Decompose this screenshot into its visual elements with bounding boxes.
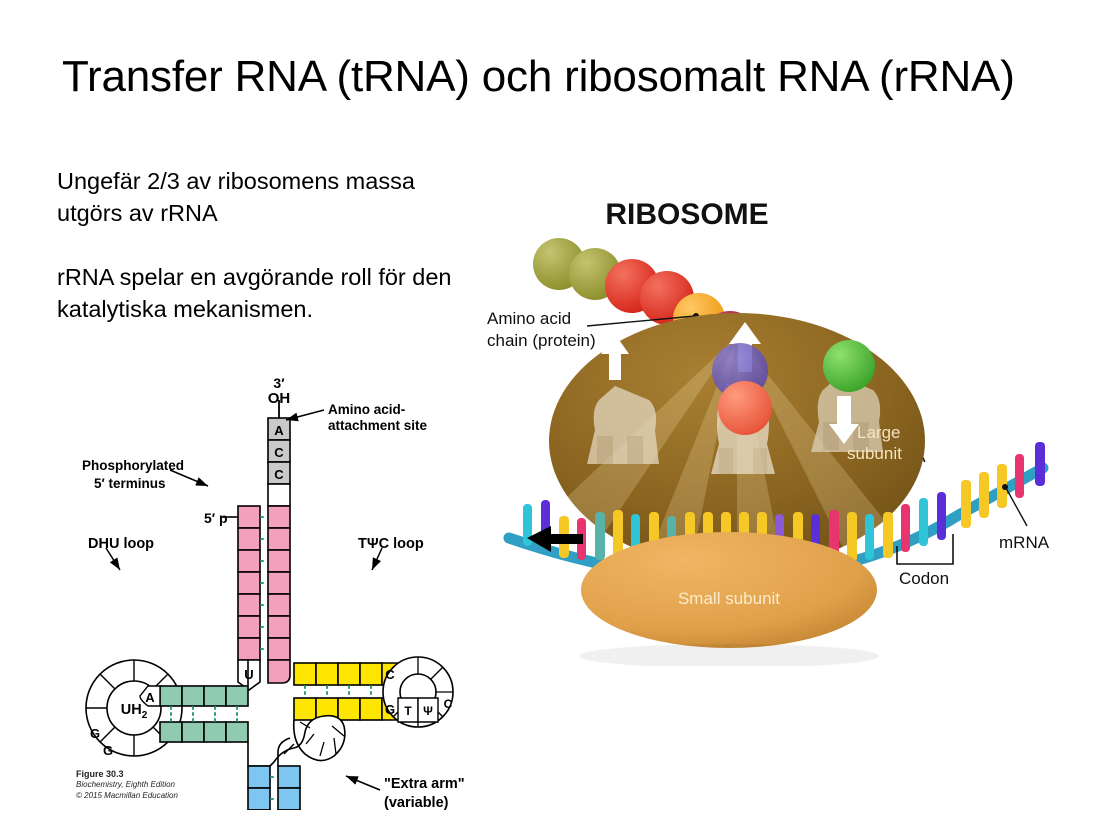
label-dhu-g1: G (90, 726, 100, 741)
label-tpsic-c-top: C (385, 667, 395, 682)
ball-green (823, 340, 875, 392)
ribosome-title: RIBOSOME (605, 198, 768, 231)
label-extra-arm-2: (variable) (384, 795, 449, 810)
label-large-1: Large (857, 423, 900, 442)
label-tpsic-c-right: C (444, 697, 453, 711)
label-large-2: subunit (847, 444, 902, 463)
label-three-prime: 3′ (273, 375, 285, 391)
ball-salmon (718, 381, 772, 435)
label-acc-a: A (274, 423, 284, 438)
acceptor-stem (238, 400, 290, 683)
slide: Transfer RNA (tRNA) och ribosomalt RNA (… (0, 0, 1110, 836)
label-u-junction: U (244, 667, 253, 682)
label-dhu-g2: G (103, 743, 113, 758)
label-tpsic-psi: Ψ (423, 704, 433, 718)
label-tpsic-t: T (404, 704, 412, 718)
label-tpsic-g: G (385, 702, 395, 717)
label-codon: Codon (899, 569, 949, 588)
trna-cloverleaf-figure: 3′ OH A C C Amino acid- attachment site … (62, 370, 482, 810)
label-oh: OH (268, 390, 291, 407)
label-extra-arm-1: "Extra arm" (384, 776, 465, 792)
label-phosphorylated-2: 5′ terminus (94, 476, 166, 491)
caption-figure-number: Figure 30.3 (76, 768, 178, 780)
label-mrna: mRNA (999, 533, 1050, 552)
label-tpsic-loop: TΨC loop (358, 536, 424, 552)
leader-dot-mrna (1002, 484, 1008, 490)
label-amino-attach-2: attachment site (328, 418, 428, 433)
tpsic-stem (294, 663, 382, 720)
page-title: Transfer RNA (tRNA) och ribosomalt RNA (… (62, 52, 1022, 103)
caption-source: Biochemistry, Eighth Edition (76, 780, 178, 791)
label-dhu-a: A (145, 690, 155, 705)
label-dhu-loop: DHU loop (88, 536, 154, 552)
label-chain-2: chain (protein) (487, 331, 596, 350)
leader-amino-attach (286, 410, 324, 420)
label-acc-c1: C (274, 445, 284, 460)
body-paragraph-2: rRNA spelar en avgörande roll för den ka… (57, 262, 477, 325)
leader-extra-arm (346, 776, 380, 790)
tpsic-hbonds (305, 686, 371, 697)
figure-caption: Figure 30.3 Biochemistry, Eighth Edition… (76, 768, 178, 802)
ribosome-figure: RIBOSOME Amino acid chain (protein) (487, 186, 1097, 666)
acceptor-hbonds (261, 517, 267, 649)
caption-copyright: © 2015 Macmillan Education (76, 791, 178, 802)
anticodon-hbonds (271, 777, 277, 810)
label-chain-1: Amino acid (487, 309, 571, 328)
label-amino-attach-1: Amino acid- (328, 402, 405, 417)
extra-arm (270, 716, 345, 766)
label-acc-c2: C (274, 467, 284, 482)
label-small: Small subunit (678, 589, 780, 608)
body-paragraph-1: Ungefär 2/3 av ribosomens massa utgörs a… (57, 166, 477, 229)
anticodon-stem (248, 766, 300, 810)
label-five-prime-p: 5′ p (204, 510, 228, 526)
label-phosphorylated-1: Phosphorylated (82, 458, 184, 473)
